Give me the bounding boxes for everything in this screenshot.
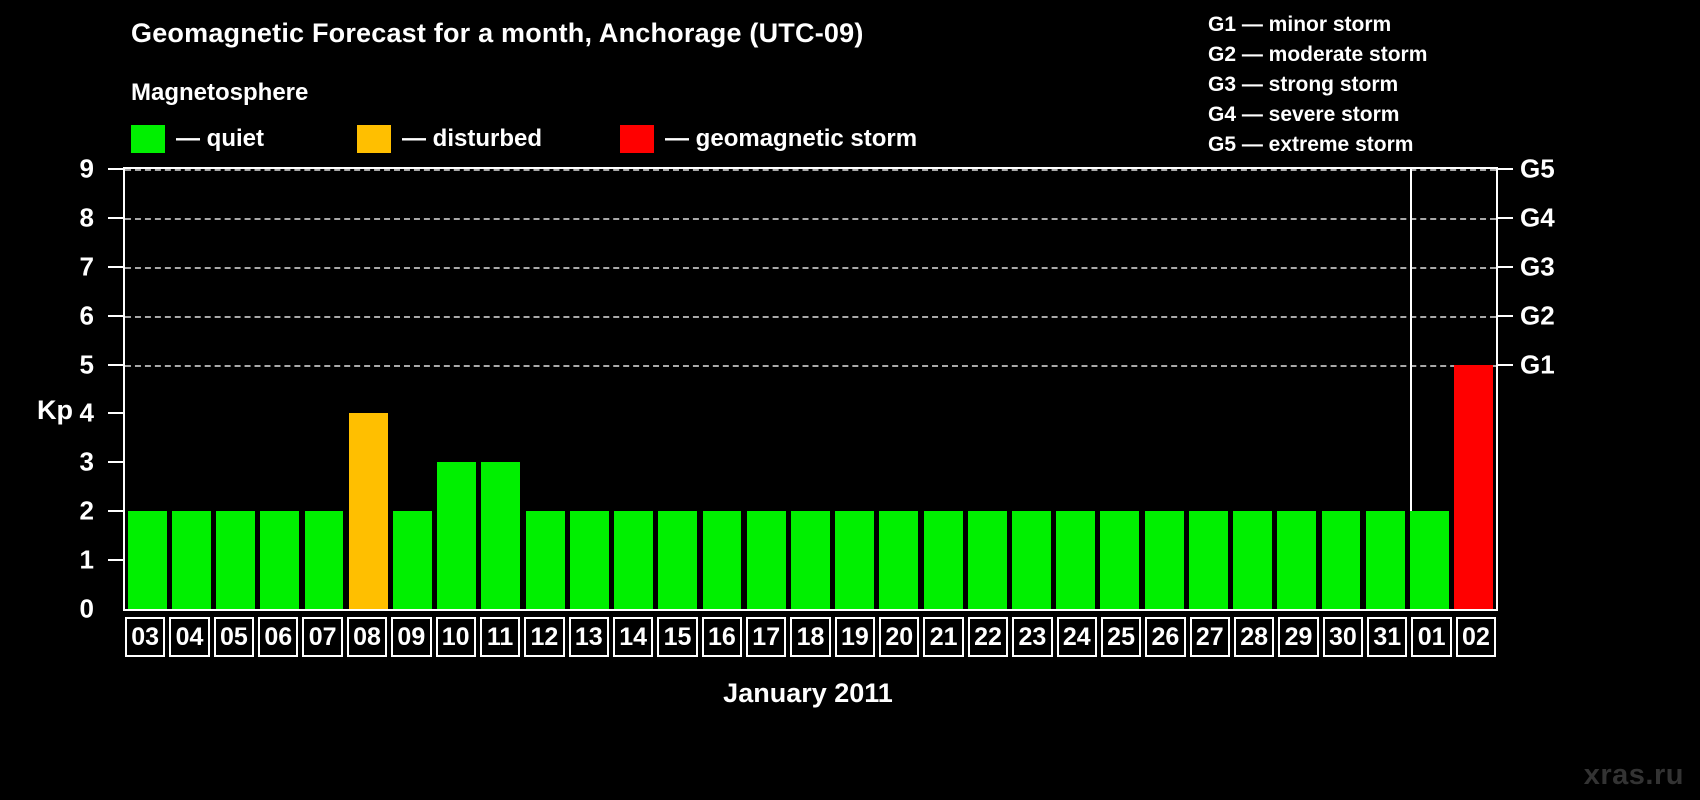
g-tick-mark-G3 (1498, 266, 1513, 268)
day-label-22[interactable]: 22 (968, 617, 1008, 657)
day-label-06[interactable]: 06 (258, 617, 298, 657)
day-label-09[interactable]: 09 (391, 617, 431, 657)
legend: — quiet — disturbed — geomagnetic storm (131, 125, 917, 153)
page-title: Geomagnetic Forecast for a month, Anchor… (131, 18, 864, 49)
day-label-05[interactable]: 05 (214, 617, 254, 657)
legend-item-quiet: — quiet (131, 125, 264, 153)
bar-09[interactable] (393, 511, 432, 609)
day-label-21[interactable]: 21 (923, 617, 963, 657)
bar-slot-13[interactable] (567, 169, 611, 609)
day-label-28[interactable]: 28 (1234, 617, 1274, 657)
bar-slot-14[interactable] (611, 169, 655, 609)
g-tick-mark-G1 (1498, 364, 1513, 366)
g-tick-mark-G4 (1498, 217, 1513, 219)
bar-slot-19[interactable] (833, 169, 877, 609)
watermark: xras.ru (1584, 759, 1684, 792)
y-tick-label-5: 5 (80, 349, 94, 380)
bar-slot-21[interactable] (921, 169, 965, 609)
legend-swatch-storm-icon (620, 125, 654, 153)
bar-29[interactable] (1277, 511, 1316, 609)
g-scale-legend: G1 — minor stormG2 — moderate stormG3 — … (1208, 10, 1427, 160)
bar-08[interactable] (349, 413, 388, 609)
bar-slot-17[interactable] (744, 169, 788, 609)
x-axis-day-labels: 0304050607080910111213141516171819202122… (123, 617, 1498, 657)
y-tick-label-9: 9 (80, 154, 94, 185)
g-tick-mark-G5 (1498, 168, 1513, 170)
y-tick-mark-2 (108, 510, 123, 512)
bar-24[interactable] (1056, 511, 1095, 609)
bar-05[interactable] (216, 511, 255, 609)
g-scale-legend-row-3: G3 — strong storm (1208, 70, 1427, 100)
day-label-27[interactable]: 27 (1190, 617, 1230, 657)
y-tick-mark-4 (108, 412, 123, 414)
day-label-14[interactable]: 14 (613, 617, 653, 657)
day-label-07[interactable]: 07 (302, 617, 342, 657)
day-label-12[interactable]: 12 (524, 617, 564, 657)
bar-14[interactable] (614, 511, 653, 609)
day-label-17[interactable]: 17 (746, 617, 786, 657)
bar-slot-02[interactable] (1452, 169, 1496, 609)
bar-slot-30[interactable] (1319, 169, 1363, 609)
bar-slot-07[interactable] (302, 169, 346, 609)
bar-06[interactable] (260, 511, 299, 609)
day-label-23[interactable]: 23 (1012, 617, 1052, 657)
bar-17[interactable] (747, 511, 786, 609)
y-tick-mark-8 (108, 217, 123, 219)
legend-label-quiet: — quiet (176, 125, 264, 153)
bar-23[interactable] (1012, 511, 1051, 609)
bar-10[interactable] (437, 462, 476, 609)
day-label-18[interactable]: 18 (790, 617, 830, 657)
g-tick-label-G1: G1 (1520, 349, 1555, 380)
day-label-15[interactable]: 15 (657, 617, 697, 657)
bar-slot-15[interactable] (656, 169, 700, 609)
bar-slot-05[interactable] (213, 169, 257, 609)
y-axis: 0123456789 (0, 167, 123, 611)
bar-15[interactable] (658, 511, 697, 609)
day-label-24[interactable]: 24 (1057, 617, 1097, 657)
day-label-30[interactable]: 30 (1323, 617, 1363, 657)
g-scale-axis: G1G2G3G4G5 (1498, 167, 1698, 611)
bar-27[interactable] (1189, 511, 1228, 609)
chart-canvas: Geomagnetic Forecast for a month, Anchor… (0, 0, 1700, 800)
bar-slot-24[interactable] (1054, 169, 1098, 609)
legend-swatch-quiet-icon (131, 125, 165, 153)
bar-31[interactable] (1366, 511, 1405, 609)
y-tick-label-6: 6 (80, 300, 94, 331)
bar-slot-28[interactable] (1230, 169, 1274, 609)
day-label-29[interactable]: 29 (1278, 617, 1318, 657)
g-tick-label-G3: G3 (1520, 251, 1555, 282)
day-label-03[interactable]: 03 (125, 617, 165, 657)
x-axis-title-text: January 2011 (723, 678, 893, 708)
legend-label-disturbed: — disturbed (402, 125, 542, 153)
bar-21[interactable] (924, 511, 963, 609)
g-scale-legend-row-5: G5 — extreme storm (1208, 130, 1427, 160)
g-tick-label-G4: G4 (1520, 202, 1555, 233)
bar-slot-22[interactable] (965, 169, 1009, 609)
bar-16[interactable] (703, 511, 742, 609)
bar-slot-10[interactable] (435, 169, 479, 609)
bar-slot-16[interactable] (700, 169, 744, 609)
bar-series (125, 169, 1496, 609)
g-tick-label-G5: G5 (1520, 154, 1555, 185)
y-tick-mark-9 (108, 168, 123, 170)
bar-30[interactable] (1322, 511, 1361, 609)
y-tick-mark-1 (108, 559, 123, 561)
bar-20[interactable] (879, 511, 918, 609)
bar-slot-26[interactable] (1142, 169, 1186, 609)
bar-07[interactable] (305, 511, 344, 609)
bar-slot-20[interactable] (877, 169, 921, 609)
y-axis-title: Kp (37, 395, 73, 426)
x-axis-title: January 2011 (0, 678, 1700, 709)
legend-item-storm: — geomagnetic storm (620, 125, 917, 153)
y-tick-label-0: 0 (80, 594, 94, 625)
day-label-02[interactable]: 02 (1456, 617, 1496, 657)
bar-slot-08[interactable] (346, 169, 390, 609)
bar-12[interactable] (526, 511, 565, 609)
g-tick-label-G2: G2 (1520, 300, 1555, 331)
y-tick-mark-6 (108, 315, 123, 317)
bar-slot-31[interactable] (1363, 169, 1407, 609)
y-tick-label-8: 8 (80, 202, 94, 233)
bar-04[interactable] (172, 511, 211, 609)
bar-slot-09[interactable] (390, 169, 434, 609)
plot-area (123, 167, 1498, 611)
bar-slot-27[interactable] (1186, 169, 1230, 609)
bar-slot-04[interactable] (169, 169, 213, 609)
legend-item-disturbed: — disturbed (357, 125, 542, 153)
legend-swatch-disturbed-icon (357, 125, 391, 153)
y-tick-label-4: 4 (80, 398, 94, 429)
bar-slot-03[interactable] (125, 169, 169, 609)
bar-26[interactable] (1145, 511, 1184, 609)
g-scale-legend-row-4: G4 — severe storm (1208, 100, 1427, 130)
bar-slot-18[interactable] (788, 169, 832, 609)
day-label-26[interactable]: 26 (1145, 617, 1185, 657)
y-tick-label-7: 7 (80, 251, 94, 282)
y-tick-label-3: 3 (80, 447, 94, 478)
bar-02[interactable] (1454, 365, 1493, 609)
day-label-11[interactable]: 11 (480, 617, 520, 657)
day-label-01[interactable]: 01 (1411, 617, 1451, 657)
legend-label-storm: — geomagnetic storm (665, 125, 917, 153)
g-scale-legend-row-2: G2 — moderate storm (1208, 40, 1427, 70)
bar-19[interactable] (835, 511, 874, 609)
g-scale-legend-row-1: G1 — minor storm (1208, 10, 1427, 40)
g-tick-mark-G2 (1498, 315, 1513, 317)
day-label-13[interactable]: 13 (569, 617, 609, 657)
bar-slot-25[interactable] (1098, 169, 1142, 609)
bar-03[interactable] (128, 511, 167, 609)
bar-slot-29[interactable] (1275, 169, 1319, 609)
bar-slot-06[interactable] (258, 169, 302, 609)
bar-slot-01[interactable] (1407, 169, 1451, 609)
bar-01[interactable] (1410, 511, 1449, 609)
y-tick-label-2: 2 (80, 496, 94, 527)
y-tick-mark-3 (108, 461, 123, 463)
bar-22[interactable] (968, 511, 1007, 609)
day-label-10[interactable]: 10 (436, 617, 476, 657)
day-label-04[interactable]: 04 (169, 617, 209, 657)
magnetosphere-label: Magnetosphere (131, 79, 308, 107)
day-label-25[interactable]: 25 (1101, 617, 1141, 657)
day-label-20[interactable]: 20 (879, 617, 919, 657)
bar-13[interactable] (570, 511, 609, 609)
bar-25[interactable] (1100, 511, 1139, 609)
day-label-19[interactable]: 19 (835, 617, 875, 657)
y-tick-mark-5 (108, 364, 123, 366)
y-tick-mark-7 (108, 266, 123, 268)
day-label-31[interactable]: 31 (1367, 617, 1407, 657)
bar-slot-12[interactable] (523, 169, 567, 609)
bar-28[interactable] (1233, 511, 1272, 609)
bar-slot-11[interactable] (479, 169, 523, 609)
bar-slot-23[interactable] (1009, 169, 1053, 609)
y-tick-label-1: 1 (80, 545, 94, 576)
day-label-16[interactable]: 16 (702, 617, 742, 657)
bar-11[interactable] (481, 462, 520, 609)
bar-18[interactable] (791, 511, 830, 609)
day-label-08[interactable]: 08 (347, 617, 387, 657)
